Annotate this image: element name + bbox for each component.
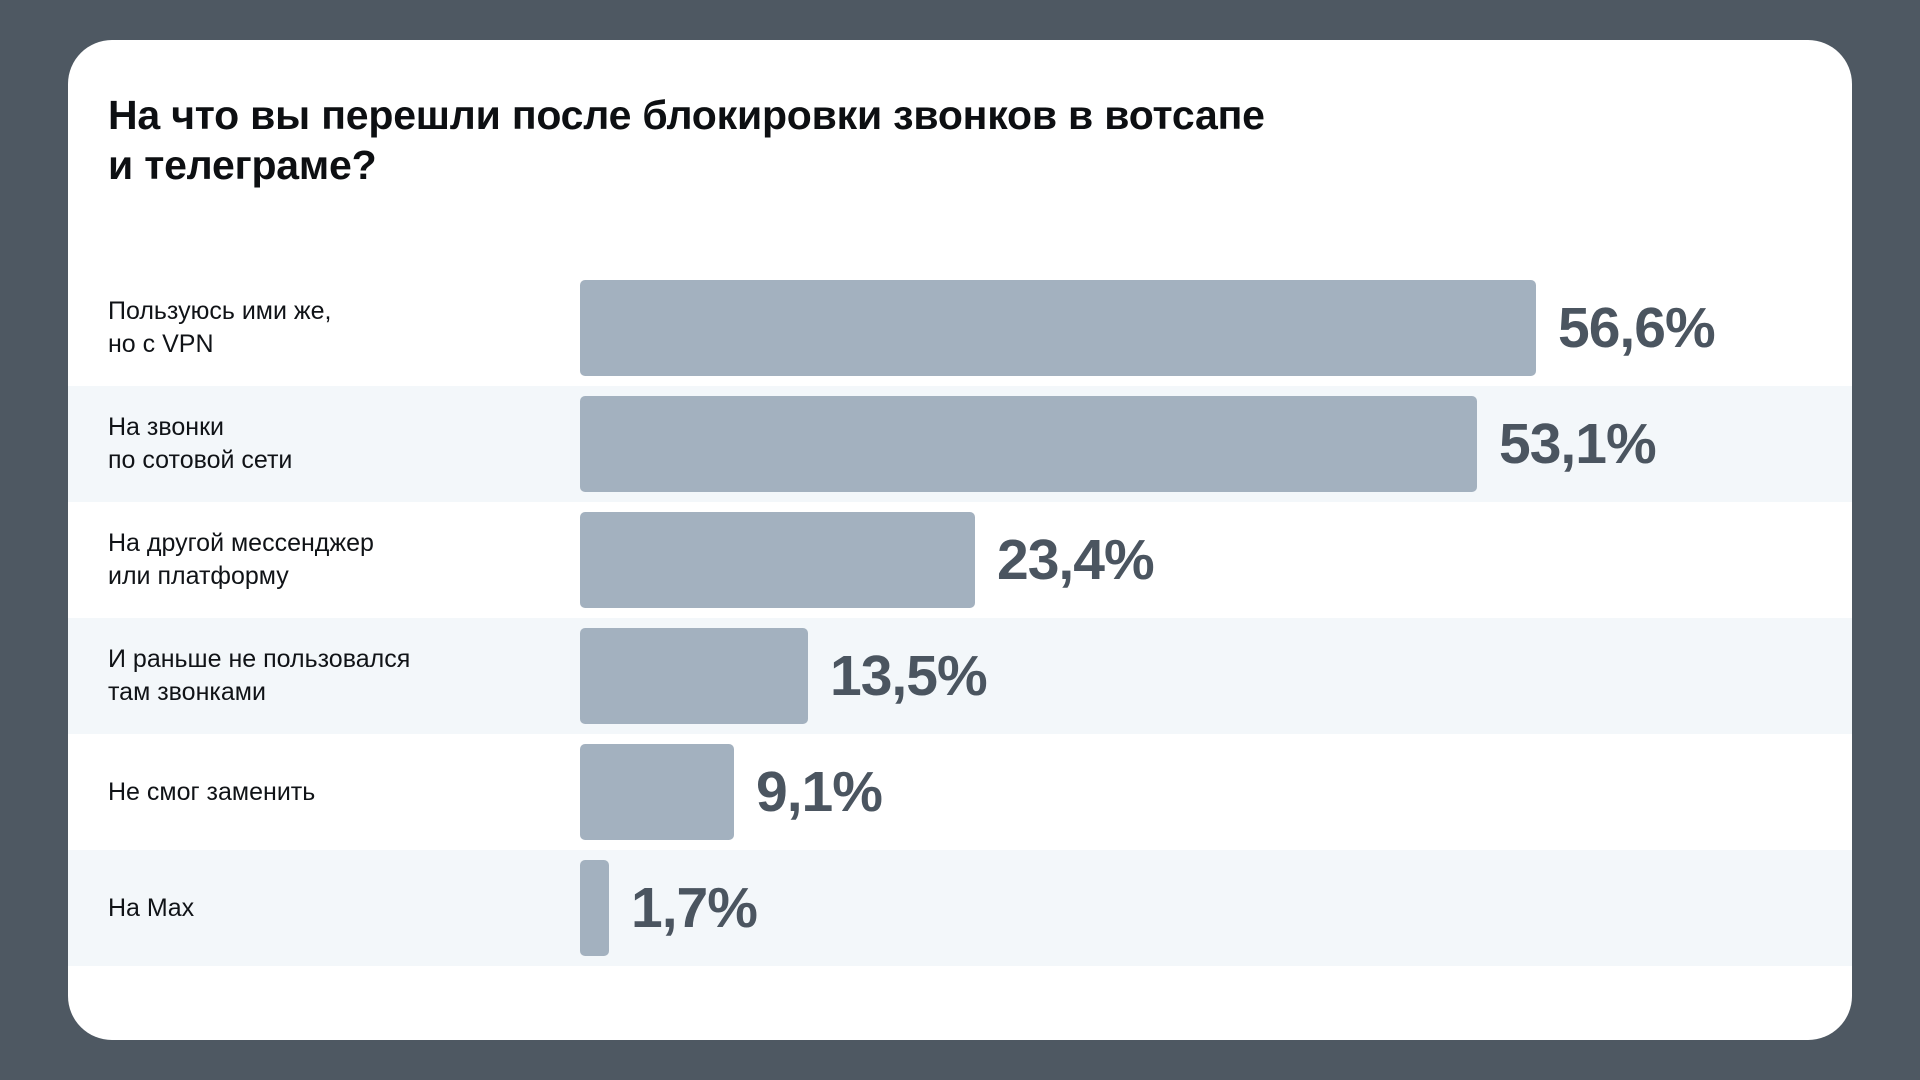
bar-category-label: На Max [108,892,548,925]
bar-value-label: 53,1% [1499,416,1656,473]
bar-track: 9,1% [580,734,1852,850]
bar-chart: Пользуюсь ими же, но с VPN 56,6% На звон… [68,270,1852,966]
bar-value-label: 1,7% [631,880,757,937]
bar-category-label: Не смог заменить [108,776,548,809]
table-row: На Max 1,7% [68,850,1852,966]
table-row: И раньше не пользовался там звонками 13,… [68,618,1852,734]
bar-category-label: На звонки по сотовой сети [108,411,548,477]
bar-category-label: Пользуюсь ими же, но с VPN [108,295,548,361]
bar-track: 56,6% [580,270,1852,386]
table-row: Не смог заменить 9,1% [68,734,1852,850]
bar-fill [580,744,734,840]
bar-fill [580,396,1477,492]
bar-track: 53,1% [580,386,1852,502]
bar-value-label: 56,6% [1558,300,1715,357]
bar-track: 13,5% [580,618,1852,734]
bar-value-label: 9,1% [756,764,882,821]
table-row: Пользуюсь ими же, но с VPN 56,6% [68,270,1852,386]
bar-category-label: На другой мессенджер или платформу [108,527,548,593]
bar-value-label: 13,5% [830,648,987,705]
bar-value-label: 23,4% [997,532,1154,589]
page-title: На что вы перешли после блокировки звонк… [108,90,1608,190]
bar-fill [580,512,975,608]
chart-card: На что вы перешли после блокировки звонк… [68,40,1852,1040]
bar-track: 1,7% [580,850,1852,966]
bar-fill [580,860,609,956]
bar-fill [580,280,1536,376]
bar-fill [580,628,808,724]
table-row: На звонки по сотовой сети 53,1% [68,386,1852,502]
bar-category-label: И раньше не пользовался там звонками [108,643,548,709]
table-row: На другой мессенджер или платформу 23,4% [68,502,1852,618]
bar-track: 23,4% [580,502,1852,618]
